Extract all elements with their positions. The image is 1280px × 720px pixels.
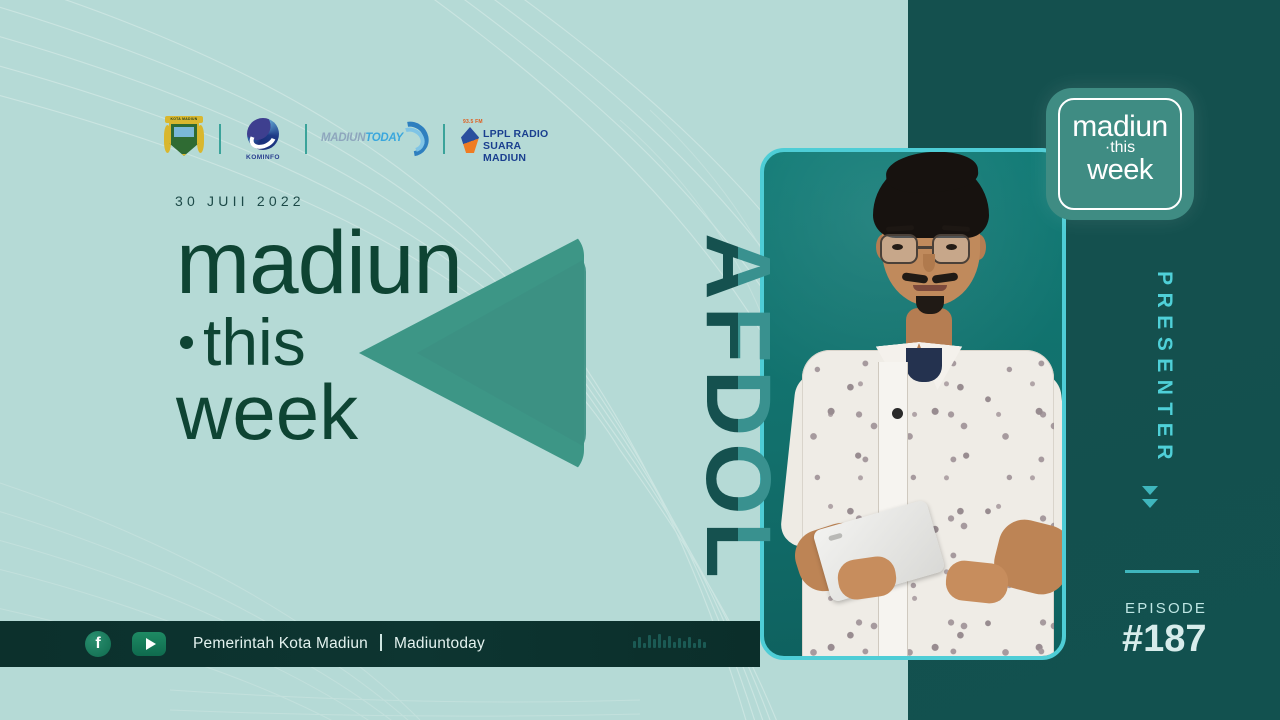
wordmark-line-week: week [176,377,462,449]
footer-credits: Pemerintah Kota MadiunMadiuntoday [193,634,485,653]
madiuntoday-label-b: TODAY [365,132,403,144]
wordmark-dot-icon [180,336,193,349]
lapel-microphone-icon [892,408,903,419]
presenter-role-vertical: PRESENTER [1104,252,1224,482]
youtube-play-icon[interactable] [132,632,166,656]
badge-line-madiun: madiun [1046,112,1194,142]
badge-line-week: week [1046,156,1194,185]
broadcast-date: 30 JUII 2022 [175,193,305,209]
chevron-down-icon [1142,486,1158,512]
footer-org-primary: Pemerintah Kota Madiun [193,635,368,652]
audio-waveform-icon [633,634,706,648]
lppl-line1: LPPL RADIO [483,128,548,140]
lppl-line2: SUARA MADIUN [483,140,563,164]
presenter-role-text: PRESENTER [1152,254,1176,484]
program-badge-logo: madiun ·this week [1046,88,1194,220]
guest-name-vertical: AFDOL [600,195,780,575]
program-wordmark: madiun this week [176,222,462,448]
footer-org-secondary: Madiuntoday [394,635,485,652]
footer-separator [380,634,382,651]
logo-divider-2 [305,124,307,154]
lppl-fm-frequency: 93.5 FM [463,119,483,125]
episode-number: #187 [1122,618,1207,661]
kota-madiun-crest-icon: KOTA MADIUN [163,116,205,162]
partner-logo-strip: KOTA MADIUN KOMINFO MADIUNTODAY 93.5 FM … [163,116,563,162]
presenter-photo-card [760,148,1066,660]
kominfo-label: KOMINFO [235,154,291,161]
lppl-radio-logo-icon: 93.5 FM LPPL RADIO SUARA MADIUN [459,119,563,159]
episode-divider [1125,570,1199,573]
kominfo-logo-icon: KOMINFO [235,116,291,162]
presenter-portrait [760,148,1066,660]
logo-divider-3 [443,124,445,154]
wordmark-line-madiun: madiun [176,222,462,304]
facebook-icon[interactable]: f [85,631,111,657]
logo-divider-1 [219,124,221,154]
broadcast-title-card: KOTA MADIUN KOMINFO MADIUNTODAY 93.5 FM … [0,0,1280,720]
guest-name-text: AFDOL [692,229,784,589]
madiuntoday-logo-icon: MADIUNTODAY [321,119,429,159]
crest-ribbon-text: KOTA MADIUN [163,116,205,123]
episode-label: EPISODE [1125,600,1207,617]
madiuntoday-label-a: MADIUN [321,132,365,144]
